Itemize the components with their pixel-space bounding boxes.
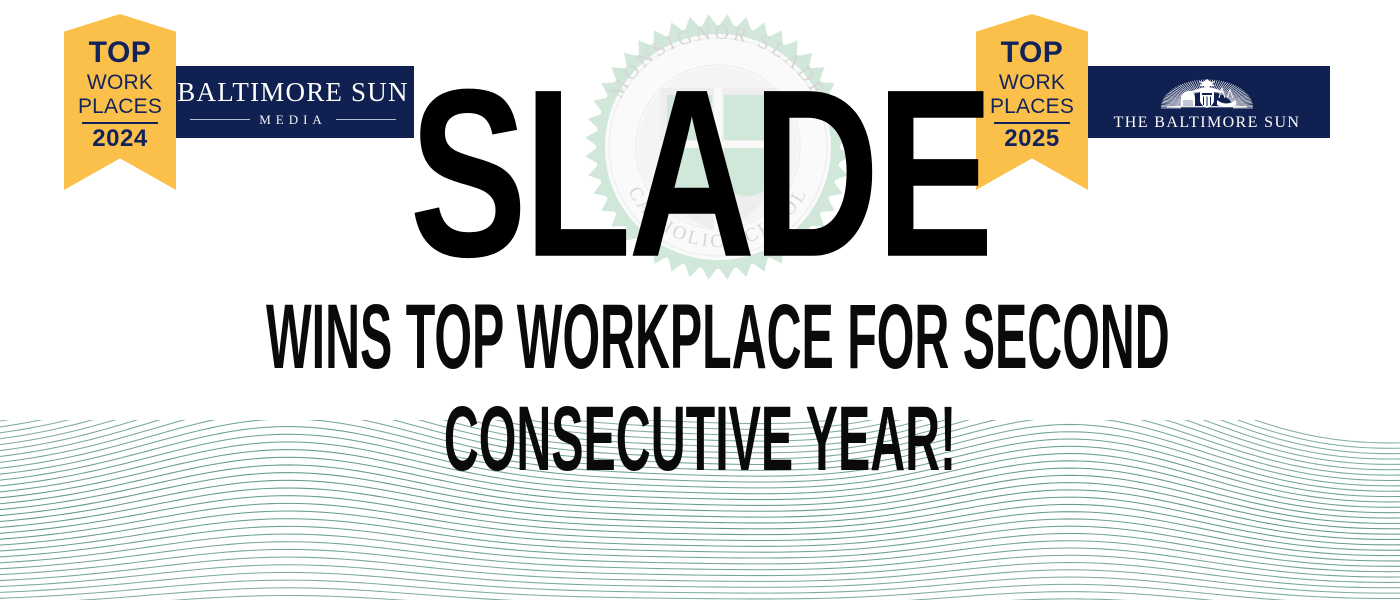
top-workplaces-ribbon-2025: TOP WORK PLACES 2025 [976,14,1088,190]
ribbon-divider [994,122,1070,124]
wave-line [0,549,1400,582]
wave-line [0,572,1400,598]
baltimore-sun-media-logo: BALTIMORE SUN MEDIA [172,66,414,138]
ribbon-year-label: 2025 [1004,127,1059,151]
ribbon-year-label: 2024 [92,127,147,151]
wave-line [0,434,1400,502]
award-badge-2025: TOP WORK PLACES 2025 THE BALTIMORE SUN [976,14,1330,190]
ribbon-top-label: TOP [1001,38,1064,68]
sun-crest-icon [1119,74,1295,114]
school-seal-watermark: MONSIGNOR SLADE CATHOLIC SCHOOL [568,0,868,312]
ribbon-work-label: WORK [87,71,153,95]
publisher-subtitle: MEDIA [259,113,327,126]
top-workplaces-ribbon-2024: TOP WORK PLACES 2024 [64,14,176,190]
wave-line [0,511,1400,556]
publisher-title: THE BALTIMORE SUN [1114,115,1301,131]
ribbon-work-label: WORK [999,71,1065,95]
rule-left-icon [190,119,250,120]
ribbon-divider [82,122,158,124]
wave-line [0,420,1400,486]
ribbon-places-label: PLACES [78,95,162,119]
wave-line [0,496,1400,545]
award-badge-2024: TOP WORK PLACES 2024 BALTIMORE SUN MEDIA [64,14,414,190]
rule-right-icon [336,119,396,120]
ribbon-places-label: PLACES [990,95,1074,119]
publisher-title: BALTIMORE SUN [177,79,408,106]
seal-svg: MONSIGNOR SLADE CATHOLIC SCHOOL [568,0,868,312]
ribbon-top-label: TOP [89,38,152,68]
wave-line [0,420,1400,454]
publisher-subtitle-row: MEDIA [190,113,396,126]
wave-line [0,427,1400,497]
the-baltimore-sun-logo: THE BALTIMORE SUN [1084,66,1330,138]
wave-line [0,420,1400,459]
wave-line-group [0,420,1400,600]
wave-decoration [0,420,1400,600]
wave-lines-svg [0,420,1400,600]
wave-line [0,420,1400,470]
